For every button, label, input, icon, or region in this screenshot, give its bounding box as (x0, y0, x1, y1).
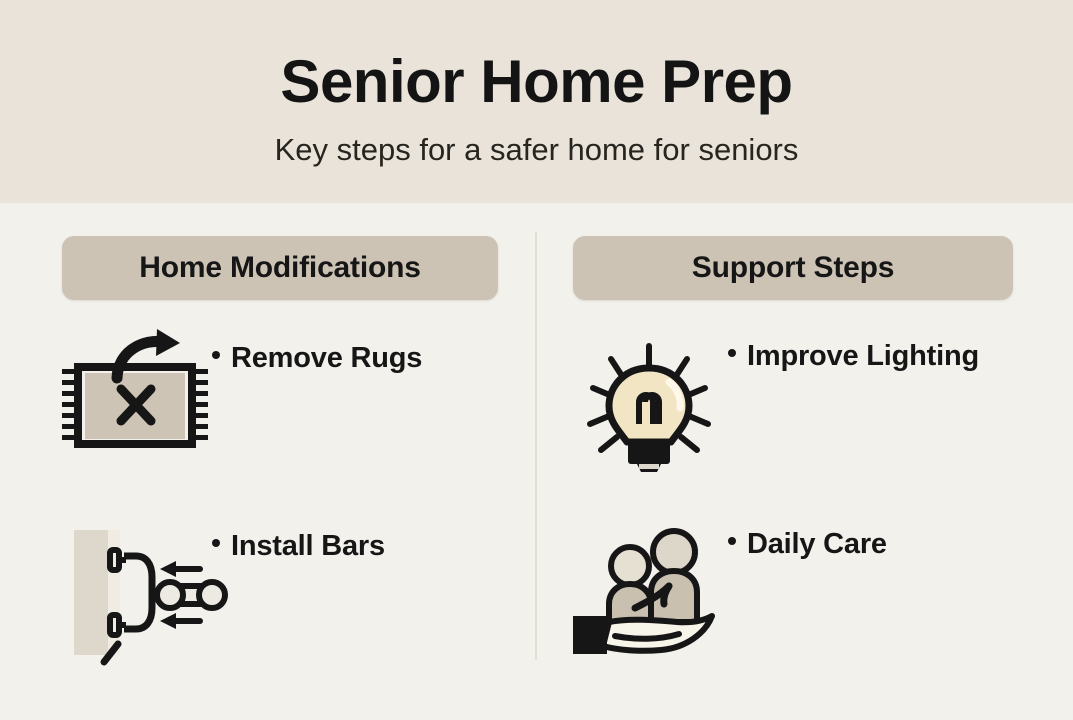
list-item-install-bars: Install Bars (62, 520, 385, 660)
column-home-modifications: Home Modifications (62, 236, 498, 300)
bullet-icon (728, 537, 736, 545)
column-divider (535, 232, 537, 660)
section-header-support-steps: Support Steps (573, 236, 1013, 300)
list-item-improve-lighting: Improve Lighting (573, 330, 979, 470)
page-title: Senior Home Prep (0, 52, 1073, 112)
list-item-label: Install Bars (212, 520, 385, 563)
section-header-label: Home Modifications (139, 251, 420, 285)
bullet-icon (728, 349, 736, 357)
bullet-icon (212, 539, 220, 547)
page-subtitle: Key steps for a safer home for seniors (0, 134, 1073, 165)
list-item-label: Improve Lighting (728, 330, 979, 373)
column-support-steps: Support Steps (573, 236, 1013, 300)
grab-bar-icon (62, 520, 212, 660)
list-item-remove-rugs: Remove Rugs (62, 332, 422, 472)
list-item-label: Daily Care (728, 518, 887, 561)
rug-no-entry-icon (62, 332, 212, 472)
list-item-text: Remove Rugs (231, 342, 422, 374)
lightbulb-icon (573, 330, 728, 470)
list-item-daily-care: Daily Care (573, 518, 887, 658)
list-item-text: Daily Care (747, 528, 887, 560)
list-item-text: Improve Lighting (747, 340, 979, 372)
bullet-icon (212, 351, 220, 359)
section-header-home-modifications: Home Modifications (62, 236, 498, 300)
list-item-label: Remove Rugs (212, 332, 422, 375)
caring-hand-icon (573, 518, 728, 658)
header-band: Senior Home Prep Key steps for a safer h… (0, 0, 1073, 203)
section-header-label: Support Steps (692, 251, 894, 285)
infographic-page: Senior Home Prep Key steps for a safer h… (0, 0, 1073, 720)
list-item-text: Install Bars (231, 530, 385, 562)
